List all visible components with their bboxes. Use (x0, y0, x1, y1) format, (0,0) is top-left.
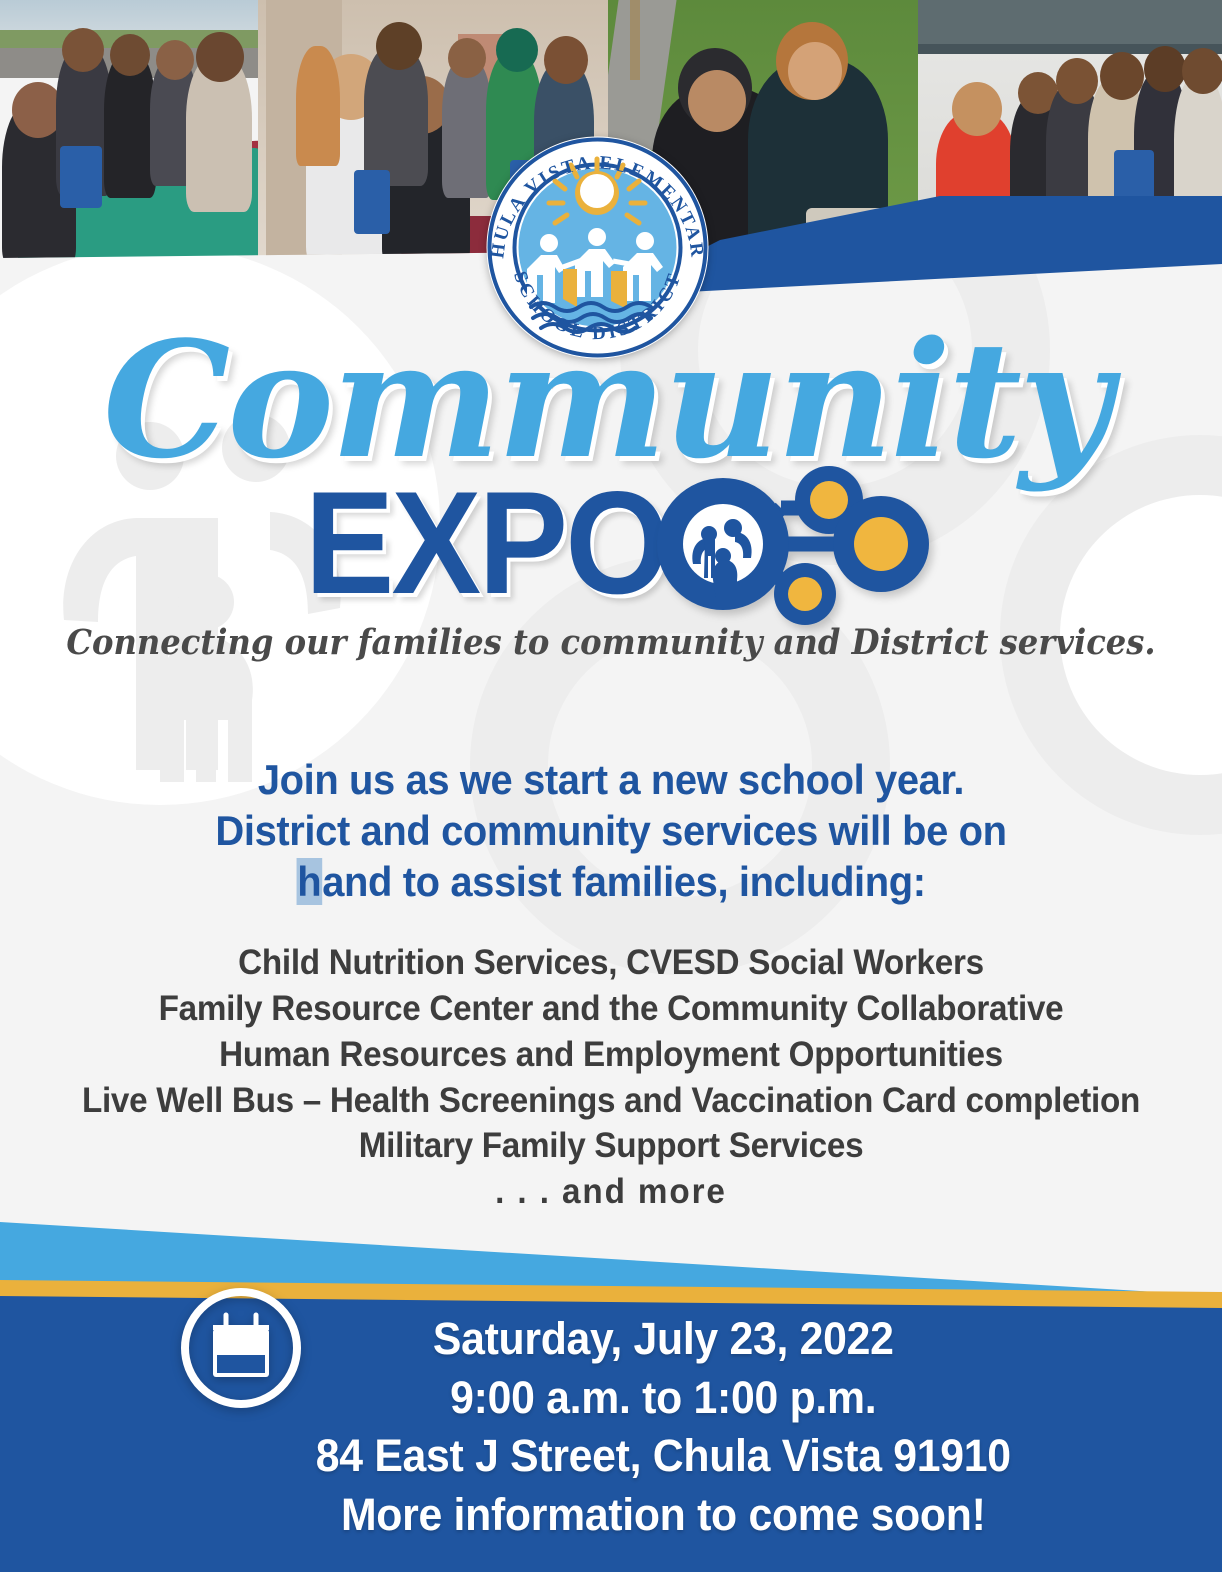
headline-line-1: Join us as we start a new school year. (31, 754, 1192, 805)
headline-line-3-rest: and to assist families, including: (322, 858, 925, 905)
tagline: Connecting our families to community and… (49, 622, 1173, 663)
service-line-3: Human Resources and Employment Opportuni… (31, 1032, 1192, 1078)
event-date: Saturday, July 23, 2022 (135, 1310, 1191, 1369)
service-and-more: . . . and more (31, 1169, 1192, 1215)
event-address: 84 East J Street, Chula Vista 91910 (135, 1427, 1191, 1486)
headline-line-3: hand to assist families, including: (31, 856, 1192, 907)
service-line-2: Family Resource Center and the Community… (31, 986, 1192, 1032)
family-network-nodes-icon (653, 458, 933, 628)
headline-line-2: District and community services will be … (31, 805, 1192, 856)
event-time: 9:00 a.m. to 1:00 p.m. (135, 1369, 1191, 1428)
services-list: Child Nutrition Services, CVESD Social W… (31, 940, 1192, 1215)
headline-highlight: h (296, 858, 322, 905)
event-note: More information to come soon! (135, 1486, 1191, 1545)
headline: Join us as we start a new school year. D… (31, 754, 1192, 908)
photo-outdoor-resource-tables (0, 0, 258, 268)
title-block: Community EXPO (0, 320, 1222, 663)
service-line-4: Live Well Bus – Health Screenings and Va… (31, 1078, 1192, 1124)
expo-title: EXPO (305, 470, 667, 616)
district-seal: CHULA VISTA ELEMENTARY SCHOOL DISTRICT (485, 135, 710, 360)
event-details: Saturday, July 23, 2022 9:00 a.m. to 1:0… (31, 1310, 1192, 1544)
flyer-canvas: CHULA VISTA ELEMENTARY SCHOOL DISTRICT C… (0, 0, 1222, 1572)
service-line-5: Military Family Support Services (31, 1123, 1192, 1169)
service-line-1: Child Nutrition Services, CVESD Social W… (31, 940, 1192, 986)
